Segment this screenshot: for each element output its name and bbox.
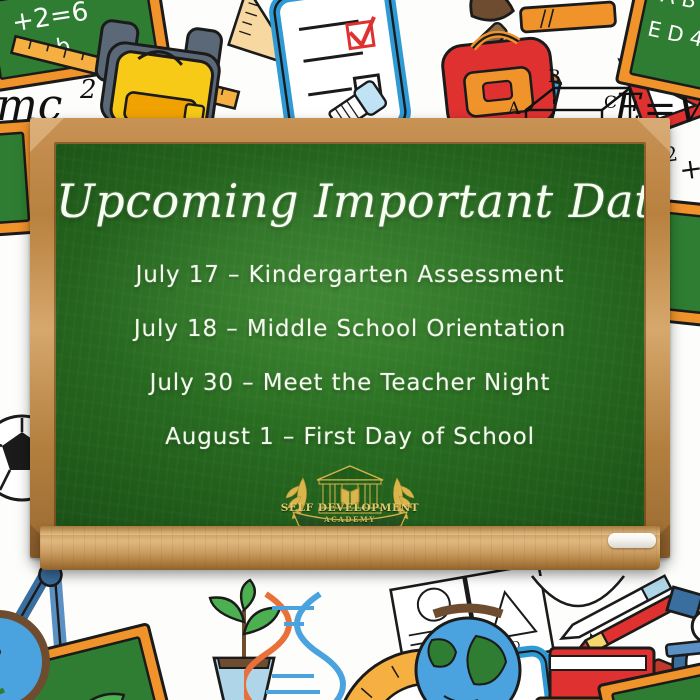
page-title: Upcoming Important Dates (56, 174, 644, 228)
school-logo: SELF DEVELOPMENT ACADEMY (275, 462, 425, 526)
ledge-lip (40, 526, 660, 535)
events-list: July 17 – Kindergarten Assessment July 1… (56, 262, 644, 478)
list-item: July 18 – Middle School Orientation (56, 316, 644, 342)
chalkboard-surface: Upcoming Important Dates July 17 – Kinde… (56, 144, 644, 526)
chalkboard: Upcoming Important Dates July 17 – Kinde… (30, 118, 670, 570)
poster-canvas: +2=6 ab mc 2 (0, 0, 700, 700)
list-item: August 1 – First Day of School (56, 424, 644, 450)
chalkboard-ledge (40, 526, 660, 570)
list-item: July 17 – Kindergarten Assessment (56, 262, 644, 288)
logo-subtitle: ACADEMY (275, 515, 425, 524)
chalkboard-wooden-frame: Upcoming Important Dates July 17 – Kinde… (30, 118, 670, 558)
list-item: July 30 – Meet the Teacher Night (56, 370, 644, 396)
logo-name: SELF DEVELOPMENT (275, 502, 425, 514)
svg-text:B: B (548, 67, 561, 87)
svg-text:A: A (507, 99, 521, 119)
dna-helix-icon (244, 590, 354, 700)
lamp-shade-icon (518, 572, 638, 642)
svg-text:+: + (677, 151, 700, 187)
chalk-stick (608, 533, 656, 548)
